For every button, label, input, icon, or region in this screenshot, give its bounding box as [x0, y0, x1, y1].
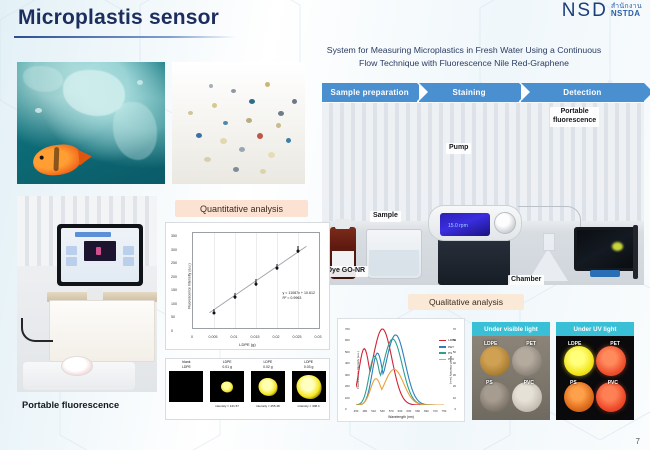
dish-label-pet: PET [610, 341, 620, 347]
label-dye-go-nr: Dye GO-NR [324, 266, 368, 277]
presentation-slide: Microplastis sensor NSD สำนักงาน NSTDA S… [0, 0, 650, 450]
title-underline [14, 36, 236, 38]
quant-plot-area [192, 232, 320, 329]
device-housing [49, 300, 155, 362]
sample-fluid [369, 250, 419, 276]
quant-y-tick: 0 [171, 329, 173, 333]
logo-mark-text: NSD [562, 1, 608, 20]
app-thumbnail [66, 257, 76, 266]
caption-portable-fluorescence: Portable fluorescence [22, 400, 119, 410]
process-heading-line-2: Flow Technique with Fluorescence Nile Re… [288, 57, 640, 70]
spectra-y-tick-right: 20 [453, 384, 456, 388]
logo-org-text: NSTDA [611, 10, 642, 18]
quant-x-tick: 0.015 [251, 335, 260, 339]
quant-x-axis-label: LDPE (g) [166, 342, 329, 347]
spectra-x-tick: 630 [406, 409, 411, 413]
ldpe-cell-intensity: intensity = 141.57 [215, 404, 239, 408]
app-thumbnail [123, 246, 133, 255]
spectra-x-tick: 510 [371, 409, 376, 413]
ldpe-cell: LDPE 0.02 g intensity = 255.48 [248, 359, 289, 419]
legend-label: PET [448, 345, 454, 349]
ldpe-fluorescence-image [292, 371, 326, 402]
quant-data-point [213, 311, 216, 314]
page-number: 7 [636, 437, 640, 446]
portable-fluorescence-tablet [574, 227, 636, 271]
pump-dial[interactable] [494, 212, 516, 234]
quantitative-analysis-badge: Quantitative analysis [175, 200, 308, 217]
quant-y-tick: 300 [171, 248, 177, 252]
quant-y-tick: 200 [171, 275, 177, 279]
spectra-x-tick: 600 [398, 409, 403, 413]
spectra-curves [356, 325, 444, 405]
device-cable [21, 318, 53, 342]
quant-x-tick: 0.005 [209, 335, 218, 339]
quant-x-tick: 0.01 [231, 335, 238, 339]
dish-pvc [596, 382, 626, 412]
tablet-stand [590, 270, 620, 277]
pellet [233, 167, 239, 172]
ldpe-cell-header: LDPE 0.03 g [304, 360, 313, 371]
spectra-y-tick-right: 10 [453, 396, 456, 400]
spectra-curve-ps [356, 339, 444, 405]
spectra-y-tick-right: 50 [453, 350, 456, 354]
spectra-y-tick-right: 70 [453, 327, 456, 331]
ldpe-cell-header-line-2: LDPE [182, 365, 191, 370]
fish-eye [39, 155, 43, 159]
quant-data-point [297, 250, 300, 253]
spectra-x-tick: 450 [354, 409, 359, 413]
spectra-y-tick-right: 30 [453, 373, 456, 377]
nstda-logo: NSD สำนักงาน NSTDA [562, 1, 642, 20]
ldpe-cell-header-line-2: 0.01 g [222, 365, 231, 370]
pellet [209, 84, 213, 88]
spectra-x-axis-label: Wavelength (nm) [338, 415, 464, 419]
ldpe-cell-header: LDPE 0.02 g [263, 360, 272, 371]
app-thumbnail [66, 246, 76, 255]
label-pump: Pump [446, 143, 471, 154]
legend-label: PS [448, 351, 452, 355]
pellet [268, 152, 275, 158]
qualitative-analysis-badge: Qualitative analysis [408, 294, 524, 310]
dish-label-ps: PS [486, 380, 493, 386]
quant-x-tick: 0.025 [293, 335, 302, 339]
dish-grid: LDPE PET PS PVC [562, 342, 628, 414]
panel-visible-body: LDPE PET PS PVC [472, 336, 550, 420]
spectra-plot-area [356, 325, 444, 405]
dish-ps [480, 382, 510, 412]
dish-pet [512, 346, 542, 376]
label-chamber: Chamber [508, 275, 544, 285]
fluorescence-spot [612, 242, 623, 251]
spectra-x-tick: 690 [424, 409, 429, 413]
pellet [276, 123, 281, 128]
ldpe-cell-header-line-2: 0.03 g [304, 365, 313, 370]
pellet [260, 169, 266, 174]
ldpe-cell-header-line-1: blank [182, 360, 191, 365]
quant-fit-r2: R² = 0.9963 [282, 296, 315, 301]
quant-x-tick: 0.03 [315, 335, 322, 339]
panel-under-uv-light: Under UV light LDPE PET PS PVC [556, 322, 634, 420]
pellet [278, 111, 284, 116]
dish-grid: LDPE PET PS PVC [478, 342, 544, 414]
process-step-sample-preparation[interactable]: Sample preparation [322, 83, 417, 102]
dish-label-pvc: PVC [524, 380, 534, 386]
support-rod [633, 225, 638, 279]
label-portable-fluorescence-line-1: Portable [553, 108, 596, 117]
fluorescence-glow [258, 378, 277, 396]
dish-label-ldpe: LDPE [568, 341, 581, 347]
flask-neck [543, 233, 555, 251]
quant-x-tick: 0.02 [273, 335, 280, 339]
ldpe-cell: blank LDPE [166, 359, 207, 419]
dish-label-pet: PET [526, 341, 536, 347]
spectra-y-tick: 300 [345, 373, 350, 377]
spectra-x-tick: 540 [380, 409, 385, 413]
fluorescence-glow [221, 382, 233, 393]
spectra-x-tick: 570 [389, 409, 394, 413]
sample-dish [61, 356, 93, 376]
chamber-flask [528, 235, 568, 281]
ldpe-cell-header: LDPE 0.01 g [222, 360, 231, 371]
pump-display-value: 15.0 rpm [448, 223, 468, 229]
device-tablet-screen [61, 228, 139, 282]
ldpe-cell-intensity: intensity = 255.48 [256, 404, 280, 408]
spectra-y-tick: 500 [345, 350, 350, 354]
pellet [223, 121, 228, 125]
pellet [239, 147, 245, 152]
fluorescence-spectra-chart: Fluorescence Intensity (a.u.) Graph Inte… [337, 318, 465, 422]
dish-ldpe [564, 346, 594, 376]
quant-y-tick: 250 [171, 261, 177, 265]
pellet [204, 157, 211, 162]
panel-uv-title: Under UV light [556, 322, 634, 336]
quant-data-point [276, 267, 279, 270]
pellet [231, 89, 236, 93]
spectra-y-tick: 200 [345, 384, 350, 388]
dye-bottle-cap [335, 219, 350, 229]
quant-x-tick: 0 [191, 335, 193, 339]
ldpe-cell-header-line-1: LDPE [304, 360, 313, 365]
spectra-x-tick: 660 [415, 409, 420, 413]
ldpe-cell-intensity: intensity = 308.4 [298, 404, 320, 408]
ldpe-cell-header: blank LDPE [182, 360, 191, 371]
debris-fleck [35, 108, 42, 113]
ldpe-cell: LDPE 0.01 g intensity = 141.57 [207, 359, 248, 419]
label-portable-fluorescence-line-2: fluorescence [553, 117, 596, 126]
ldpe-fluorescence-image [210, 371, 244, 402]
spectra-x-tick: 480 [362, 409, 367, 413]
pellet [212, 103, 217, 108]
app-thumbnail [123, 257, 133, 266]
dish-label-ldpe: LDPE [484, 341, 497, 347]
app-preview-window [84, 241, 115, 262]
spectra-x-tick: 720 [433, 409, 438, 413]
legend-swatch [439, 346, 446, 347]
pellet [257, 133, 263, 139]
quant-y-tick: 100 [171, 302, 177, 306]
process-heading-line-1: System for Measuring Microplastics in Fr… [288, 44, 640, 57]
quant-fit-annotation: y = 11087x + 10.612 R² = 0.9963 [282, 291, 315, 302]
spectra-y-tick: 100 [345, 396, 350, 400]
dish-label-pvc: PVC [608, 380, 618, 386]
spectra-y-tick: 0 [345, 407, 347, 411]
photo-portable-fluorescence-device [17, 196, 157, 392]
pellet [220, 138, 227, 144]
app-title-bar [75, 232, 111, 237]
legend-swatch [439, 340, 446, 341]
panel-under-visible-light: Under visible light LDPE PET PS PVC [472, 322, 550, 420]
process-step-staining[interactable]: Staining [419, 83, 518, 102]
pellet [188, 111, 193, 115]
quant-y-tick: 50 [171, 315, 175, 319]
spectra-y-tick-right: 60 [453, 338, 456, 342]
grid-line [235, 233, 236, 328]
photo-microplastic-pellets [172, 62, 305, 184]
panel-uv-body: LDPE PET PS PVC [556, 336, 634, 420]
sample-beaker [366, 229, 422, 279]
quant-data-point [234, 296, 237, 299]
dish-ps [564, 382, 594, 412]
ldpe-cell-header-line-1: LDPE [222, 360, 231, 365]
photo-instrument-bench: 15.0 rpm Dye GO-NR Sample Pump Portable … [322, 103, 644, 285]
label-sample: Sample [370, 211, 401, 222]
fish-stripe [53, 147, 59, 171]
pellet [246, 118, 252, 123]
quant-y-tick: 350 [171, 234, 177, 238]
pellet [286, 138, 291, 143]
pellet [249, 99, 255, 104]
dish-pvc [512, 382, 542, 412]
ldpe-cell-header-line-2: 0.02 g [263, 365, 272, 370]
grid-line [277, 233, 278, 328]
spectra-y-tick-right: 40 [453, 361, 456, 365]
spectra-x-tick: 750 [442, 409, 447, 413]
ldpe-cell: LDPE 0.03 g intensity = 308.4 [288, 359, 329, 419]
dish-pet [596, 346, 626, 376]
quant-data-point [255, 282, 258, 285]
pellet [196, 133, 202, 138]
label-portable-fluorescence: Portable fluorescence [550, 107, 599, 127]
tablet-screen [577, 230, 633, 268]
legend-swatch [439, 352, 446, 353]
spectra-y-tick: 600 [345, 338, 350, 342]
spectra-y-tick-right: 0 [454, 407, 456, 411]
pellet [265, 82, 270, 87]
spectra-y-tick: 400 [345, 361, 350, 365]
device-tablet [57, 224, 143, 286]
legend-swatch [439, 359, 446, 360]
pellet [292, 99, 297, 104]
ldpe-fluorescence-image [169, 371, 203, 402]
process-heading: System for Measuring Microplastics in Fr… [288, 44, 640, 69]
page-title: Microplastis sensor [18, 6, 219, 30]
process-flow-banner: Sample preparation Staining Detection [322, 83, 644, 102]
logo-text-stack: สำนักงาน NSTDA [611, 1, 642, 18]
dish-ldpe [480, 346, 510, 376]
ldpe-fluorescence-strip: blank LDPE LDPE 0.01 g intensity = 141.5… [165, 358, 330, 420]
spectra-y-tick: 700 [345, 327, 350, 331]
ldpe-fluorescence-image [251, 371, 285, 402]
panel-visible-title: Under visible light [472, 322, 550, 336]
quant-y-tick: 150 [171, 288, 177, 292]
quantitative-analysis-chart: Fluorescence Intensity (a.u.) LDPE (g) y… [165, 222, 330, 350]
dish-label-ps: PS [570, 380, 577, 386]
ldpe-cell-header-line-1: LDPE [263, 360, 272, 365]
process-step-detection[interactable]: Detection [521, 83, 644, 102]
debris-fleck [137, 80, 143, 85]
photo-ocean-plastic-pollution [17, 62, 165, 184]
fluorescence-glow [296, 375, 321, 399]
